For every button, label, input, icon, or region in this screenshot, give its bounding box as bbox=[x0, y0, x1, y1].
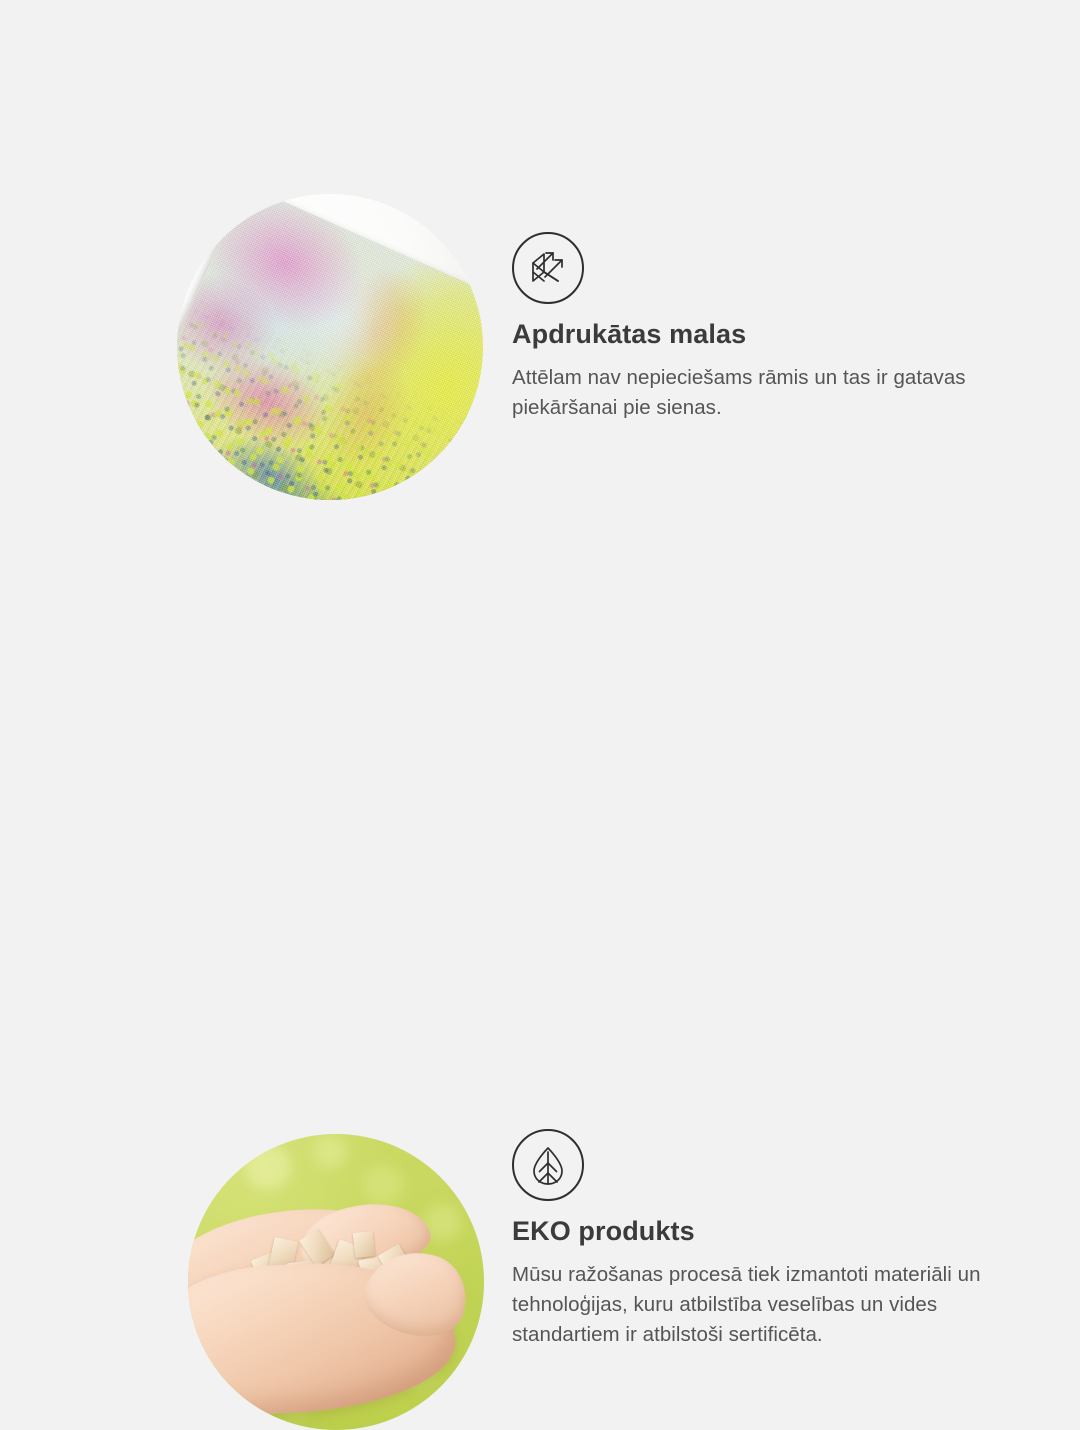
feature-printed-edges: Apdrukātas malas Attēlam nav nepieciešam… bbox=[0, 0, 1080, 540]
feature-description-eco: Mūsu ražošanas procesā tiek izmantoti ma… bbox=[512, 1260, 1012, 1349]
canvas-print-photo bbox=[177, 194, 483, 500]
feature-title-printed-edges: Apdrukātas malas bbox=[512, 318, 1012, 350]
printed-edges-glyph bbox=[525, 245, 571, 291]
printed-edges-icon-wrapper bbox=[512, 232, 584, 304]
feature-description-printed-edges: Attēlam nav nepieciešams rāmis un tas ir… bbox=[512, 363, 1012, 422]
leaf-icon-wrapper bbox=[512, 1129, 584, 1201]
printed-edges-icon bbox=[512, 232, 584, 304]
printed-edges-copy: Apdrukātas malas Attēlam nav nepieciešam… bbox=[512, 318, 1012, 423]
leaf-icon bbox=[512, 1129, 584, 1201]
eco-copy: EKO produkts Mūsu ražošanas procesā tiek… bbox=[512, 1215, 1012, 1350]
wood-chips-photo bbox=[188, 1134, 484, 1430]
leaf-glyph bbox=[526, 1143, 570, 1187]
feature-title-eco: EKO produkts bbox=[512, 1215, 1012, 1247]
feature-eco: EKO produkts Mūsu ražošanas procesā tiek… bbox=[0, 540, 1080, 1080]
product-feature-panel: Apdrukātas malas Attēlam nav nepieciešam… bbox=[0, 0, 1080, 1080]
